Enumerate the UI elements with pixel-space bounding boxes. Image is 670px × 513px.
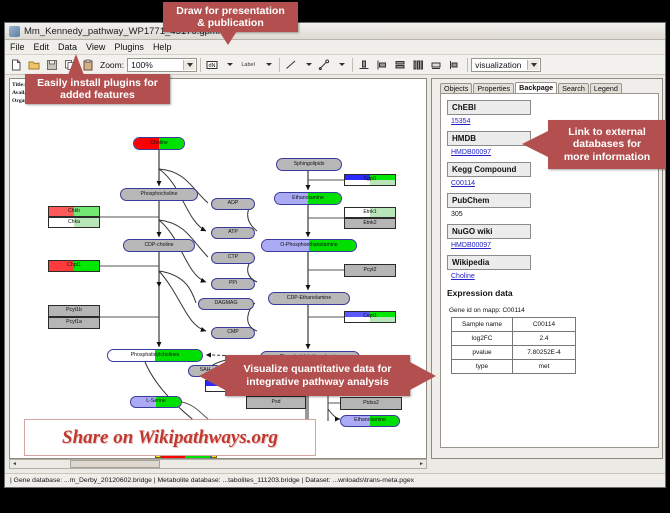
app-icon [9, 26, 20, 37]
metabolite-node-phosphatidylcholines[interactable]: Phosphatidylcholines [107, 349, 203, 362]
toolbar-separator [467, 58, 468, 72]
db-link-wikipedia[interactable]: Choline [451, 273, 658, 280]
anchor-icon[interactable] [316, 57, 332, 73]
gene-node-ptdss2[interactable]: Ptdss2 [340, 397, 402, 410]
callout-links-text: Link to external databases for more info… [564, 126, 650, 163]
gene-node-pcyt1b[interactable]: Pcyt1b [48, 305, 100, 317]
node-label: CTP [228, 255, 238, 260]
toolbar-separator [279, 58, 280, 72]
metabolite-node-dagmag[interactable]: DAGMAG [198, 298, 254, 310]
gene-node-cept1[interactable]: Cept1 [344, 311, 396, 323]
callout-visualize-text: Visualize quantitative data for integrat… [243, 363, 391, 388]
callout-share-text: Share on Wikipathways.org [62, 427, 278, 449]
menu-item-plugins[interactable]: Plugins [114, 42, 144, 52]
menu-item-file[interactable]: File [10, 42, 25, 52]
order-icon[interactable] [446, 57, 462, 73]
db-link-kegg[interactable]: C00114 [451, 180, 658, 187]
node-label: PPi [229, 281, 237, 286]
metabolite-node-choline[interactable]: Choline [133, 137, 185, 150]
gene-node-sgpl1[interactable]: Sgpl1 [344, 174, 396, 186]
node-label: Chkb [68, 209, 80, 214]
callout-links: Link to external databases for more info… [548, 120, 666, 169]
save-icon[interactable] [44, 57, 60, 73]
canvas-horizontal-scrollbar[interactable]: ◄ ► [9, 459, 427, 469]
callout-draw: Draw for presentation & publication [163, 2, 298, 32]
cell-value: 2.4 [513, 332, 576, 346]
callout-visualize-arrow [199, 362, 225, 390]
db-header-chebi: ChEBI [447, 100, 531, 115]
metabolite-node-ethanolamine[interactable]: Ethanolamine [340, 415, 400, 427]
callout-visualize: Visualize quantitative data for integrat… [225, 355, 410, 396]
node-label: Ethanolamine [292, 196, 324, 201]
callout-visualize-arrow-right [410, 362, 436, 390]
node-label: Chpt1 [67, 263, 81, 268]
visualization-combobox[interactable]: visualization [471, 58, 541, 72]
align-left-icon[interactable] [374, 57, 390, 73]
metabolite-node-l-serine[interactable]: L-Serine [130, 396, 182, 408]
menu-item-edit[interactable]: Edit [34, 42, 50, 52]
node-label: ATP [228, 230, 238, 235]
menu-item-help[interactable]: Help [153, 42, 172, 52]
status-text: | Gene database: ...m_Derby_20120602.bri… [10, 477, 414, 484]
node-label: Chka [68, 220, 80, 225]
cell-key: Sample name [452, 318, 513, 332]
node-label: CMP [227, 330, 239, 335]
node-label: Sgpl1 [363, 177, 376, 182]
group-icon[interactable] [428, 57, 444, 73]
node-label: Sphingolipids [294, 162, 325, 167]
toolbar: Zoom: 100% dN Label [5, 55, 665, 75]
node-label: ADP [228, 201, 239, 206]
metabolite-node-cdp-choline[interactable]: CDP-choline [123, 239, 195, 252]
node-label: Phosphatidylcholines [131, 353, 180, 358]
datanode-icon[interactable]: dN [204, 57, 220, 73]
chevron-down-icon[interactable] [222, 57, 237, 72]
node-label: Pcyt2 [364, 268, 377, 273]
scroll-right-icon[interactable]: ► [417, 460, 426, 468]
align-top-icon[interactable] [356, 57, 372, 73]
gene-node-chka[interactable]: Chka [48, 217, 100, 228]
screenshot-root: Mm_Kennedy_pathway_WP1771_45176.gpml Fil… [0, 0, 670, 509]
node-label: Etnk1 [363, 210, 376, 215]
gene-node-pcyt2[interactable]: Pcyt2 [344, 264, 396, 277]
toolbar-separator [352, 58, 353, 72]
new-icon[interactable] [8, 57, 24, 73]
metabolite-node-adp[interactable]: ADP [211, 198, 255, 210]
scrollbar-thumb[interactable] [70, 460, 160, 468]
expression-table: Sample name C00114 log2FC 2.4 pvalue 7.8… [451, 317, 576, 374]
gene-node-chpt1[interactable]: Chpt1 [48, 260, 100, 272]
node-label: Psd [272, 400, 281, 405]
gene-node-psd[interactable]: Psd [246, 396, 306, 409]
table-row: Sample name C00114 [452, 318, 576, 332]
menu-item-view[interactable]: View [86, 42, 105, 52]
cell-key: type [452, 360, 513, 374]
node-label: DAGMAG [214, 301, 237, 306]
scroll-left-icon[interactable]: ◄ [10, 460, 19, 468]
toolbar-separator [200, 58, 201, 72]
chevron-down-icon[interactable] [301, 57, 316, 72]
cell-key: log2FC [452, 332, 513, 346]
metabolite-node-o-phosphoethanolamine[interactable]: O-Phosphoethanolamine [261, 239, 357, 252]
cell-value: C00114 [513, 318, 576, 332]
label-icon[interactable]: Label [237, 57, 259, 73]
node-label: Ethanolamine [354, 418, 386, 423]
node-label: Phosphocholine [141, 192, 178, 197]
db-header-hmdb: HMDB [447, 131, 531, 146]
stack-icon[interactable] [392, 57, 408, 73]
metabolite-node-sphingolipids[interactable]: Sphingolipids [276, 158, 342, 171]
db-header-kegg: Kegg Compound [447, 162, 531, 177]
cell-value: met [513, 360, 576, 374]
line-icon[interactable] [283, 57, 299, 73]
pathway-canvas[interactable]: Title: Availa Organi [9, 78, 427, 459]
expression-data-heading: Expression data [447, 288, 658, 298]
cell-value: 7.80252E-4 [513, 346, 576, 360]
node-label: Ptdss2 [363, 401, 379, 406]
chevron-down-icon[interactable] [261, 57, 276, 72]
callout-draw-text: Draw for presentation & publication [176, 5, 285, 30]
chevron-down-icon[interactable] [334, 57, 349, 72]
zoom-combobox[interactable]: 100% [127, 58, 197, 72]
status-bar: | Gene database: ...m_Derby_20120602.bri… [5, 473, 665, 487]
node-label: O-Phosphoethanolamine [280, 243, 337, 248]
callout-links-arrow-shaft [536, 137, 550, 151]
db-header-nugo: NuGO wiki [447, 224, 531, 239]
zoom-value: 100% [131, 60, 153, 70]
db-header-wikipedia: Wikipedia [447, 255, 531, 270]
node-label: L-Serine [146, 399, 166, 404]
visualization-value: visualization [475, 60, 521, 70]
menu-item-data[interactable]: Data [58, 42, 77, 52]
title-bar: Mm_Kennedy_pathway_WP1771_45176.gpml [5, 23, 665, 40]
node-label: CDP-choline [144, 243, 173, 248]
node-label: Cept1 [363, 314, 377, 319]
gene-node-etnk1[interactable]: Etnk1 [344, 207, 396, 218]
node-label: Pcyt1b [66, 308, 82, 313]
gene-node-pcyt1a[interactable]: Pcyt1a [48, 317, 100, 329]
metabolite-node-ctp[interactable]: CTP [211, 252, 255, 264]
metabolite-node-ppi[interactable]: PPi [211, 278, 255, 290]
cell-key: pvalue [452, 346, 513, 360]
node-label: Choline [150, 141, 168, 146]
distribute-icon[interactable] [410, 57, 426, 73]
callout-plugins-arrow [68, 54, 84, 75]
callout-draw-arrow [219, 31, 237, 45]
menu-bar: File Edit Data View Plugins Help [5, 40, 665, 55]
chevron-down-icon[interactable] [183, 60, 195, 70]
db-link-nugo[interactable]: HMDB00097 [451, 242, 658, 249]
table-row: type met [452, 360, 576, 374]
gene-node-etnk2[interactable]: Etnk2 [344, 218, 396, 229]
zoom-label: Zoom: [100, 60, 124, 70]
node-label: CDP-Ethanolamine [287, 296, 331, 301]
callout-share: Share on Wikipathways.org [24, 419, 316, 456]
label-icon-text: Label [241, 62, 254, 68]
metabolite-node-cmp[interactable]: CMP [211, 327, 255, 339]
svg-text:dN: dN [209, 63, 216, 69]
metabolite-node-cdp-ethanolamine[interactable]: CDP-Ethanolamine [268, 292, 350, 305]
node-label: Pcyt1a [66, 320, 82, 325]
callout-plugins: Easily install plugins for added feature… [25, 74, 170, 104]
gene-node-chkb[interactable]: Chkb [48, 206, 100, 217]
db-value-pubchem: 305 [451, 211, 658, 218]
table-row: pvalue 7.80252E-4 [452, 346, 576, 360]
open-icon[interactable] [26, 57, 42, 73]
gene-id-line: Gene id on mapp: C00114 [449, 307, 658, 314]
metabolite-node-atp[interactable]: ATP [211, 227, 255, 239]
metabolite-node-ethanolamine[interactable]: Ethanolamine [274, 192, 342, 205]
metabolite-node-phosphocholine[interactable]: Phosphocholine [120, 188, 198, 201]
node-label: Etnk2 [363, 221, 376, 226]
chevron-down-icon[interactable] [527, 60, 539, 70]
db-header-pubchem: PubChem [447, 193, 531, 208]
callout-plugins-text: Easily install plugins for added feature… [37, 77, 158, 102]
table-row: log2FC 2.4 [452, 332, 576, 346]
